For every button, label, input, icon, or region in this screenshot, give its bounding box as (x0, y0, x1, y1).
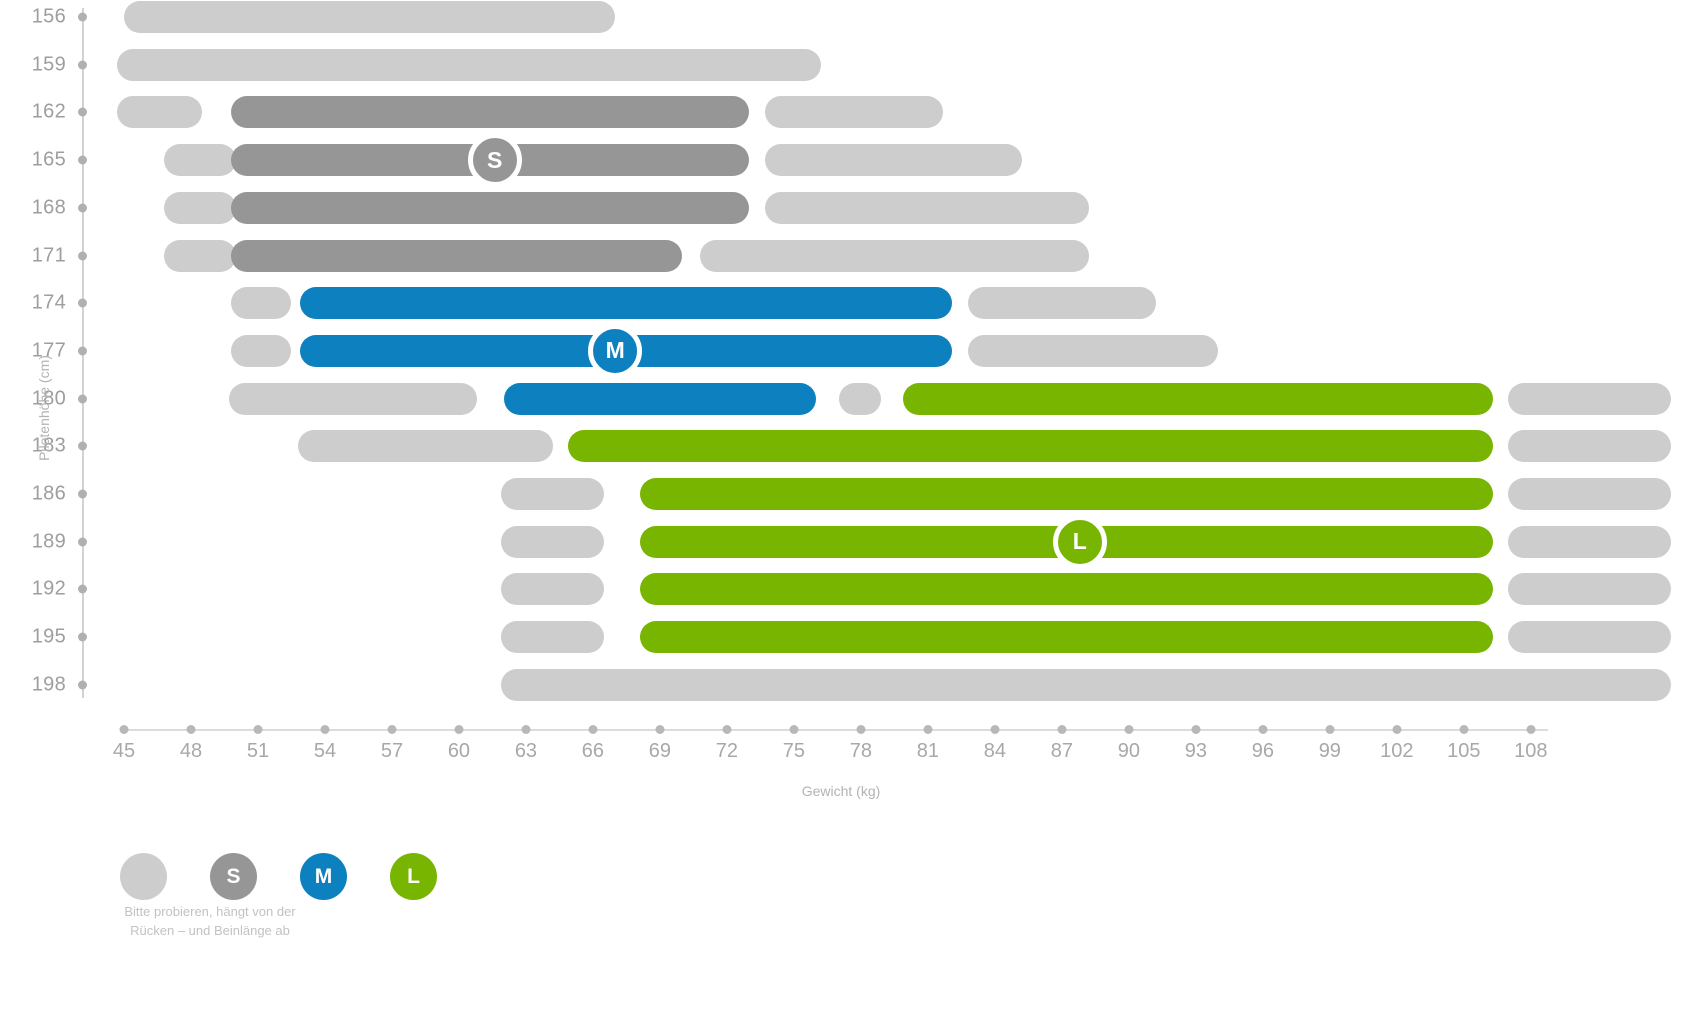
y-tick-dot (78, 60, 87, 69)
bar-segment-maybe[interactable] (501, 573, 604, 605)
bar-segment-maybe[interactable] (839, 383, 881, 415)
x-tick-dot (1057, 725, 1066, 734)
bar-segment-l[interactable] (568, 430, 1492, 462)
x-tick-dot (387, 725, 396, 734)
y-tick-dot (78, 633, 87, 642)
bar-segment-maybe[interactable] (164, 144, 235, 176)
x-tick-dot (990, 725, 999, 734)
y-tick-label: 165 (0, 149, 66, 172)
size-badge-l[interactable]: L (1053, 515, 1107, 569)
x-tick-label: 87 (1051, 740, 1073, 763)
y-tick-dot (78, 680, 87, 689)
legend-caption: Bitte probieren, hängt von der Rücken – … (110, 903, 310, 941)
bar-segment-maybe[interactable] (765, 144, 1022, 176)
bar-segment-l[interactable] (640, 573, 1493, 605)
bar-segment-maybe[interactable] (164, 192, 235, 224)
x-tick-label: 102 (1380, 740, 1413, 763)
bar-segment-maybe[interactable] (1508, 621, 1671, 653)
x-tick-dot (856, 725, 865, 734)
y-tick-label: 156 (0, 6, 66, 29)
bar-segment-maybe[interactable] (231, 287, 291, 319)
x-tick-dot (588, 725, 597, 734)
x-tick-label: 105 (1447, 740, 1480, 763)
bar-segment-maybe[interactable] (117, 49, 820, 81)
size-badge-m[interactable]: M (588, 324, 642, 378)
y-tick-label: 177 (0, 339, 66, 362)
y-tick-label: 189 (0, 530, 66, 553)
x-tick-label: 84 (984, 740, 1006, 763)
bar-segment-s[interactable] (231, 192, 749, 224)
bar-segment-l[interactable] (903, 383, 1493, 415)
legend-dot-m[interactable]: M (300, 853, 347, 900)
x-tick-dot (1392, 725, 1401, 734)
x-tick-label: 51 (247, 740, 269, 763)
x-tick-dot (923, 725, 932, 734)
x-tick-dot (1526, 725, 1535, 734)
x-tick-dot (120, 725, 129, 734)
y-tick-dot (78, 108, 87, 117)
plot-area: 1561591621651681711741771801831861891921… (0, 0, 1682, 1016)
y-tick-dot (78, 537, 87, 546)
bar-segment-maybe[interactable] (501, 669, 1671, 701)
bar-segment-s[interactable] (231, 240, 682, 272)
x-tick-label: 63 (515, 740, 537, 763)
y-tick-label: 162 (0, 101, 66, 124)
bar-segment-maybe[interactable] (968, 287, 1156, 319)
size-badge-s[interactable]: S (468, 133, 522, 187)
x-tick-dot (454, 725, 463, 734)
x-tick-label: 72 (716, 740, 738, 763)
bar-segment-maybe[interactable] (501, 621, 604, 653)
bar-segment-maybe[interactable] (231, 335, 291, 367)
bar-segment-maybe[interactable] (765, 96, 944, 128)
bar-segment-maybe[interactable] (1508, 526, 1671, 558)
y-tick-label: 192 (0, 578, 66, 601)
y-tick-dot (78, 156, 87, 165)
y-tick-label: 195 (0, 626, 66, 649)
x-tick-dot (655, 725, 664, 734)
x-tick-label: 108 (1514, 740, 1547, 763)
bar-segment-maybe[interactable] (1508, 383, 1671, 415)
y-tick-label: 168 (0, 196, 66, 219)
x-tick-dot (186, 725, 195, 734)
bar-segment-maybe[interactable] (765, 192, 1089, 224)
bar-segment-maybe[interactable] (229, 383, 477, 415)
bar-segment-s[interactable] (231, 96, 749, 128)
y-tick-dot (78, 251, 87, 260)
bar-segment-m[interactable] (300, 287, 952, 319)
bar-segment-maybe[interactable] (968, 335, 1218, 367)
bar-segment-maybe[interactable] (501, 526, 604, 558)
y-tick-label: 171 (0, 244, 66, 267)
bar-segment-maybe[interactable] (1508, 573, 1671, 605)
bar-segment-maybe[interactable] (700, 240, 1089, 272)
x-tick-dot (1459, 725, 1468, 734)
x-tick-label: 66 (582, 740, 604, 763)
y-tick-label: 180 (0, 387, 66, 410)
y-tick-label: 174 (0, 292, 66, 315)
x-axis-line (124, 729, 1548, 731)
x-axis-title: Gewicht (kg) (0, 783, 1682, 799)
bar-segment-maybe[interactable] (1508, 478, 1671, 510)
bar-segment-maybe[interactable] (298, 430, 553, 462)
x-tick-dot (1258, 725, 1267, 734)
x-tick-dot (320, 725, 329, 734)
y-tick-dot (78, 346, 87, 355)
y-tick-dot (78, 394, 87, 403)
x-tick-label: 93 (1185, 740, 1207, 763)
bar-segment-m[interactable] (504, 383, 817, 415)
y-tick-dot (78, 13, 87, 22)
x-tick-label: 78 (850, 740, 872, 763)
bar-segment-maybe[interactable] (1508, 430, 1671, 462)
y-tick-dot (78, 490, 87, 499)
x-tick-label: 57 (381, 740, 403, 763)
bar-segment-maybe[interactable] (117, 96, 202, 128)
y-axis-title: Pilotenhöhe (cm) (36, 308, 52, 508)
y-tick-dot (78, 585, 87, 594)
x-tick-dot (1124, 725, 1133, 734)
y-tick-label: 183 (0, 435, 66, 458)
bar-segment-maybe[interactable] (124, 1, 615, 33)
x-tick-dot (789, 725, 798, 734)
size-chart: 1561591621651681711741771801831861891921… (0, 0, 1682, 1016)
bar-segment-maybe[interactable] (501, 478, 604, 510)
y-tick-dot (78, 299, 87, 308)
x-tick-label: 54 (314, 740, 336, 763)
x-tick-dot (1191, 725, 1200, 734)
x-tick-label: 75 (783, 740, 805, 763)
y-tick-dot (78, 442, 87, 451)
bar-segment-maybe[interactable] (164, 240, 235, 272)
x-tick-dot (1325, 725, 1334, 734)
legend-dot-s[interactable]: S (210, 853, 257, 900)
legend-dot-maybe[interactable] (120, 853, 167, 900)
x-tick-label: 60 (448, 740, 470, 763)
bar-segment-l[interactable] (640, 621, 1493, 653)
x-tick-label: 69 (649, 740, 671, 763)
x-tick-dot (521, 725, 530, 734)
legend-dot-l[interactable]: L (390, 853, 437, 900)
x-tick-label: 45 (113, 740, 135, 763)
x-tick-dot (253, 725, 262, 734)
y-tick-dot (78, 203, 87, 212)
x-tick-label: 96 (1252, 740, 1274, 763)
y-tick-label: 159 (0, 53, 66, 76)
x-tick-label: 81 (917, 740, 939, 763)
y-tick-label: 198 (0, 673, 66, 696)
y-tick-label: 186 (0, 483, 66, 506)
x-tick-label: 90 (1118, 740, 1140, 763)
x-tick-label: 99 (1319, 740, 1341, 763)
bar-segment-l[interactable] (640, 478, 1493, 510)
x-tick-dot (722, 725, 731, 734)
x-tick-label: 48 (180, 740, 202, 763)
